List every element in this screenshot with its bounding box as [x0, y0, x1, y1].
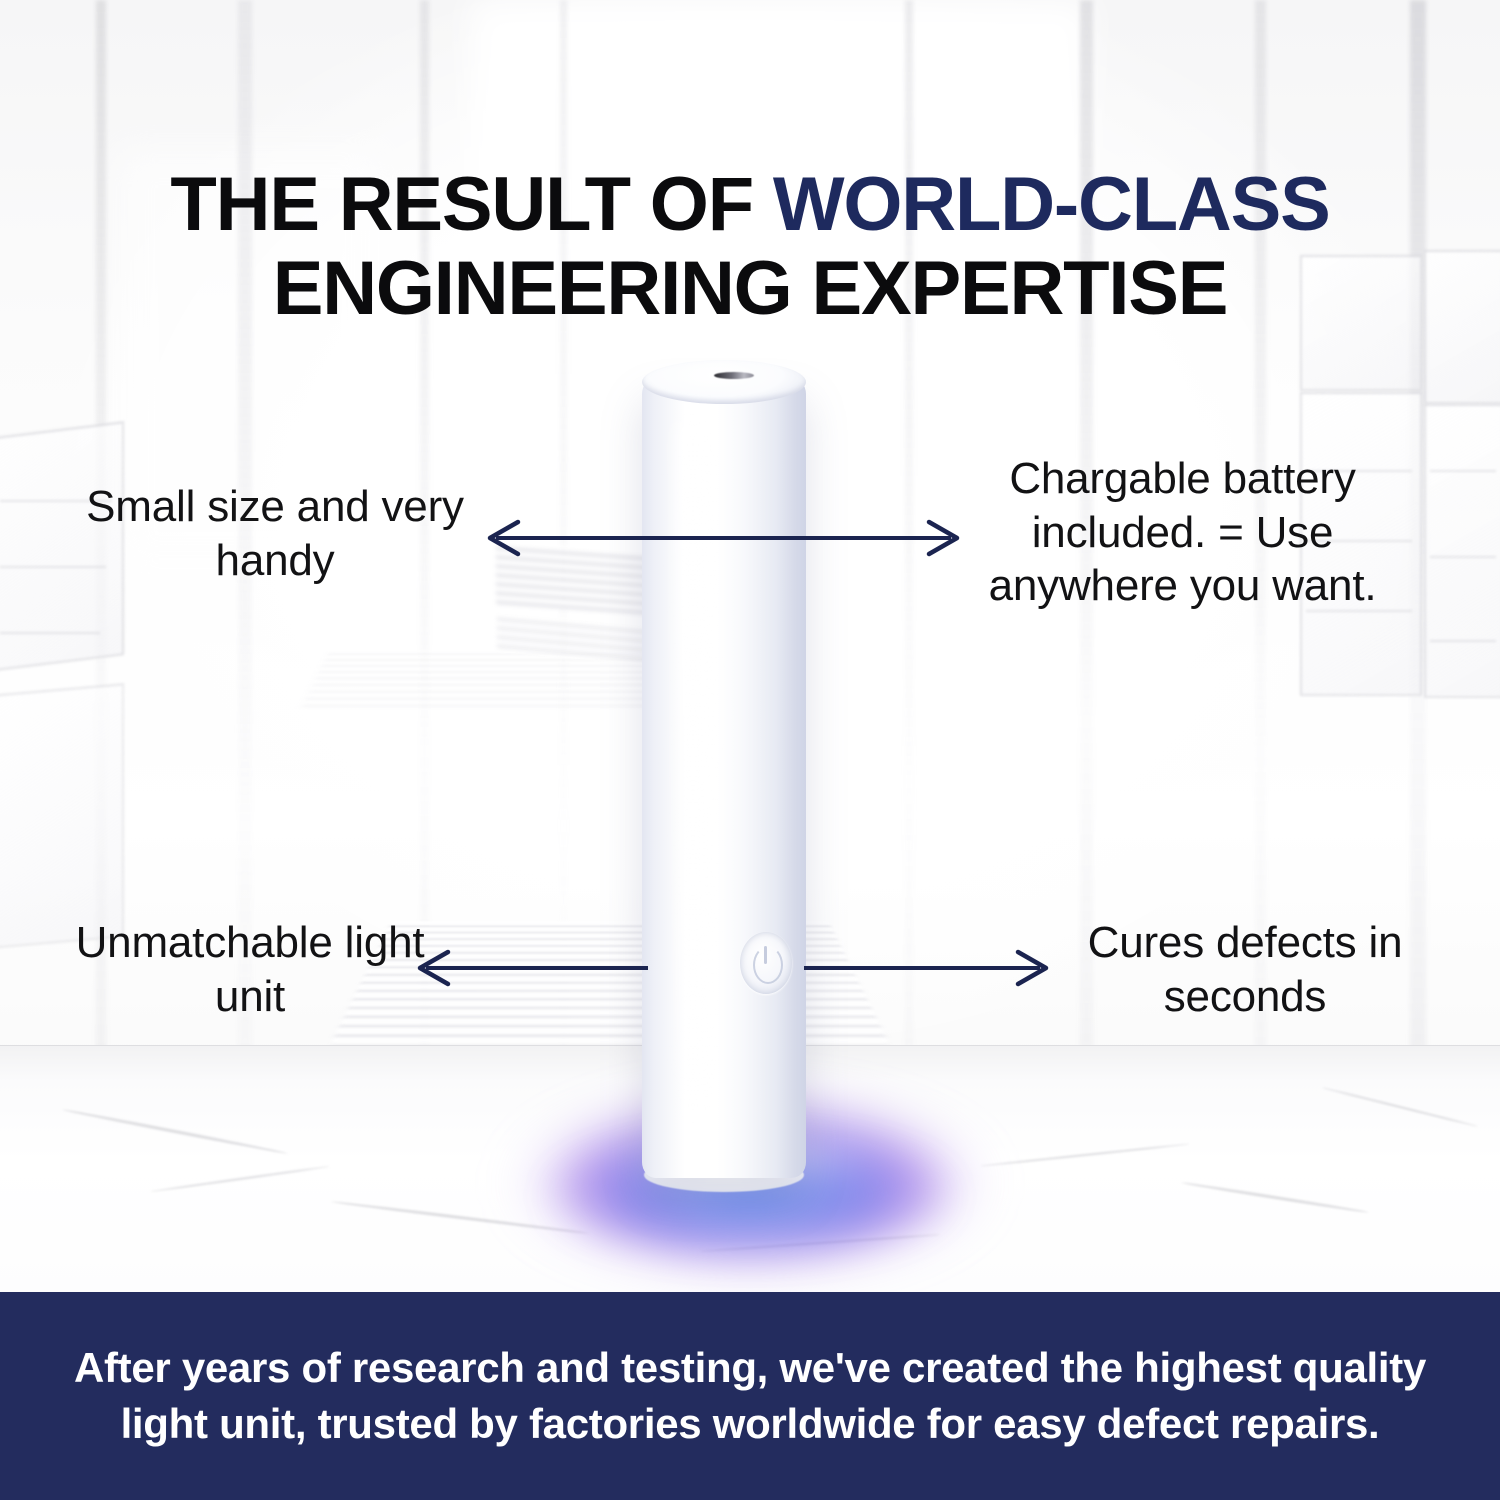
infographic-canvas: THE RESULT OF WORLD-CLASS ENGINEERING EX… — [0, 0, 1500, 1500]
headline-line1-plain: THE RESULT OF — [170, 162, 772, 247]
product-image-uv-light-pen — [638, 356, 810, 1186]
callout-small-size: Small size and very handy — [60, 480, 490, 587]
bottom-right-arrow — [800, 946, 1056, 990]
top-right-arrow — [795, 516, 967, 560]
background-shelf-line — [1430, 470, 1496, 472]
background-shelf-line — [1430, 640, 1496, 642]
background-glass-pane — [0, 683, 124, 950]
power-button-icon — [740, 932, 792, 994]
callout-unmatchable-light-unit: Unmatchable light unit — [50, 916, 450, 1023]
led-aperture-icon — [714, 372, 754, 379]
callout-cures-defects: Cures defects in seconds — [1050, 916, 1440, 1023]
background-glass-pane — [1424, 404, 1500, 698]
bottom-banner: After years of research and testing, we'… — [0, 1292, 1500, 1500]
background-shelf-line — [0, 632, 100, 634]
callout-chargable-battery: Chargable battery included. = Use anywhe… — [955, 452, 1410, 613]
device-body — [642, 378, 806, 1178]
headline-line1-accent: WORLD-CLASS — [773, 162, 1330, 247]
background-shelf-line — [1430, 556, 1496, 558]
page-title: THE RESULT OF WORLD-CLASS ENGINEERING EX… — [0, 163, 1500, 330]
top-left-arrow — [480, 516, 820, 560]
device-top-cap — [642, 360, 806, 404]
banner-text: After years of research and testing, we'… — [0, 1340, 1500, 1453]
headline-line2: ENGINEERING EXPERTISE — [273, 246, 1228, 331]
